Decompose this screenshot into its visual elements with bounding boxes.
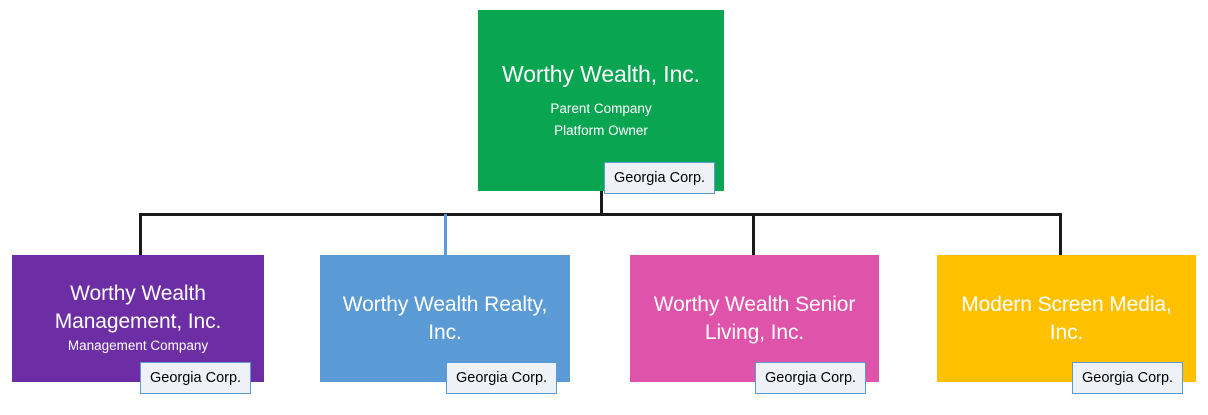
jurisdiction-badge-root[interactable]: Georgia Corp. (604, 162, 715, 194)
jurisdiction-badge-modern-screen-media[interactable]: Georgia Corp. (1072, 362, 1183, 394)
jurisdiction-badge-worthy-wealth-management[interactable]: Georgia Corp. (140, 362, 251, 394)
org-node-root-subtitle-2: Platform Owner (546, 120, 656, 142)
org-node-worthy-wealth-realty-title: Worthy Wealth Realty, Inc. (320, 291, 570, 346)
org-node-worthy-wealth-senior-living-title: Worthy Wealth Senior Living, Inc. (630, 291, 879, 346)
org-node-root-subtitles: Parent Company Platform Owner (542, 98, 659, 142)
org-node-root-title: Worthy Wealth, Inc. (492, 59, 710, 89)
jurisdiction-badge-worthy-wealth-realty[interactable]: Georgia Corp. (446, 362, 557, 394)
org-node-worthy-wealth-management-title: Worthy Wealth Management, Inc. (12, 280, 264, 335)
org-chart: Worthy Wealth, Inc. Parent Company Platf… (0, 0, 1208, 415)
jurisdiction-badge-worthy-wealth-senior-living[interactable]: Georgia Corp. (755, 362, 866, 394)
org-node-root-subtitle-1: Parent Company (542, 98, 659, 120)
org-node-modern-screen-media-title: Modern Screen Media, Inc. (937, 291, 1196, 346)
org-node-worthy-wealth-management-subtitle: Management Company (60, 335, 216, 357)
